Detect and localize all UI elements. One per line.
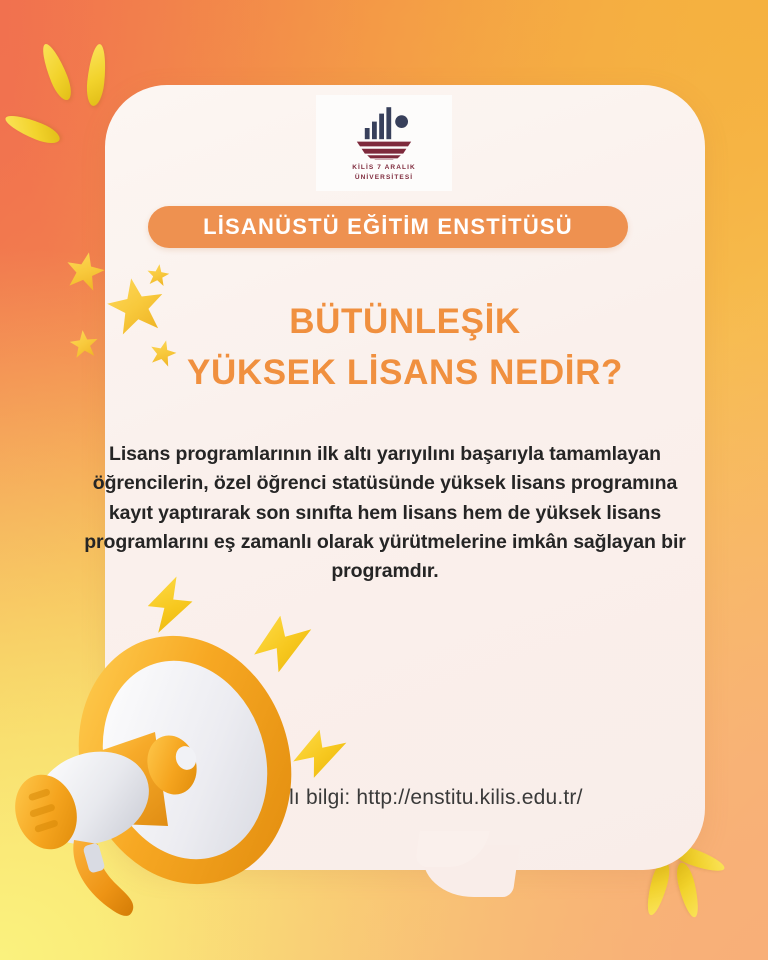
star-icon bbox=[69, 329, 100, 360]
institute-banner-label: LİSANÜSTÜ EĞİTİM ENSTİTÜSÜ bbox=[203, 214, 573, 240]
university-logo: KİLİS 7 ARALIK ÜNİVERSİTESİ bbox=[316, 95, 452, 191]
institute-banner: LİSANÜSTÜ EĞİTİM ENSTİTÜSÜ bbox=[148, 206, 628, 248]
speech-bubble-tail bbox=[416, 845, 519, 897]
logo-text-line1: KİLİS 7 ARALIK bbox=[352, 163, 416, 173]
logo-mark-icon bbox=[344, 104, 424, 160]
poster-canvas: KİLİS 7 ARALIK ÜNİVERSİTESİ LİSANÜSTÜ EĞ… bbox=[0, 0, 768, 960]
page-title: BÜTÜNLEŞİK YÜKSEK LİSANS NEDİR? bbox=[105, 296, 705, 399]
star-icon bbox=[62, 248, 107, 293]
megaphone-icon bbox=[0, 612, 300, 942]
ray-teardrop-icon bbox=[85, 43, 108, 106]
description-paragraph: Lisans programlarının ilk altı yarıyılın… bbox=[75, 440, 695, 586]
page-title-line2: YÜKSEK LİSANS NEDİR? bbox=[105, 347, 705, 398]
ray-teardrop-icon bbox=[673, 861, 702, 919]
ray-teardrop-icon bbox=[37, 41, 75, 103]
page-title-line1: BÜTÜNLEŞİK bbox=[105, 296, 705, 347]
logo-text-line2: ÜNİVERSİTESİ bbox=[352, 173, 416, 183]
ray-teardrop-icon bbox=[2, 110, 62, 147]
